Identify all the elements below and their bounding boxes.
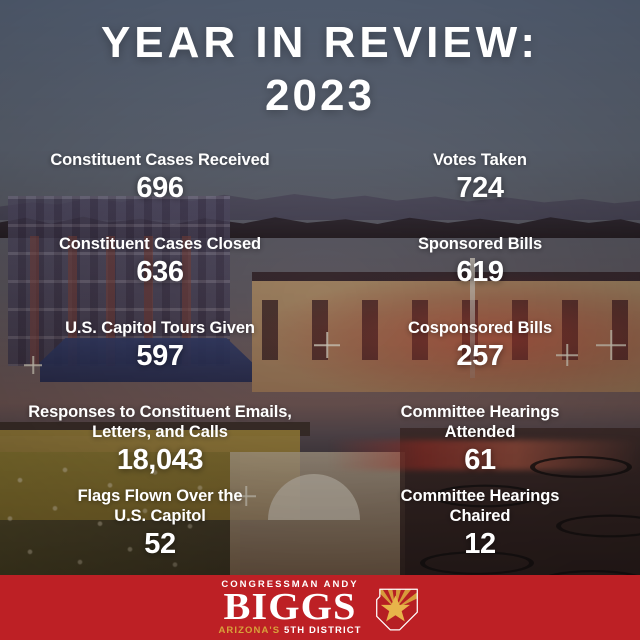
title-line-2: 2023: [0, 68, 640, 124]
stat-value: 18,043: [16, 442, 304, 478]
stat-item: Responses to Constituent Emails, Letters…: [0, 402, 320, 486]
stat-value: 696: [16, 170, 304, 206]
stat-item: Cosponsored Bills 257: [320, 318, 640, 402]
logo-wordmark: CONGRESSMAN ANDY BIGGS ARIZONA'S 5TH DIS…: [218, 580, 361, 636]
stat-item: Flags Flown Over the U.S. Capitol 52: [0, 486, 320, 570]
arizona-flag-emblem-icon: [370, 582, 422, 634]
stat-label: Cosponsored Bills: [336, 318, 624, 338]
stat-label: U.S. Capitol Tours Given: [16, 318, 304, 338]
stat-item: Committee Hearings Chaired 12: [320, 486, 640, 570]
stat-label: Committee Hearings Chaired: [336, 486, 624, 526]
stat-label: Flags Flown Over the U.S. Capitol: [16, 486, 304, 526]
statistics-right-column: Votes Taken 724 Sponsored Bills 619 Cosp…: [320, 150, 640, 570]
stat-item: Constituent Cases Received 696: [0, 150, 320, 234]
infographic-content: YEAR IN REVIEW: 2023 Constituent Cases R…: [0, 0, 640, 640]
stat-value: 724: [336, 170, 624, 206]
stat-value: 636: [16, 254, 304, 290]
stat-item: Votes Taken 724: [320, 150, 640, 234]
page-title: YEAR IN REVIEW: 2023: [0, 18, 640, 124]
title-line-1: YEAR IN REVIEW:: [0, 18, 640, 68]
statistics-grid: Constituent Cases Received 696 Constitue…: [0, 150, 640, 570]
logo-name: BIGGS: [214, 590, 366, 624]
stat-value: 61: [336, 442, 624, 478]
congressman-biggs-logo: CONGRESSMAN ANDY BIGGS ARIZONA'S 5TH DIS…: [218, 575, 421, 640]
stat-label: Constituent Cases Closed: [16, 234, 304, 254]
stat-item: U.S. Capitol Tours Given 597: [0, 318, 320, 402]
year-in-review-infographic: YEAR IN REVIEW: 2023 Constituent Cases R…: [0, 0, 640, 640]
stat-label: Sponsored Bills: [336, 234, 624, 254]
stat-item: Constituent Cases Closed 636: [0, 234, 320, 318]
stat-label: Responses to Constituent Emails, Letters…: [16, 402, 304, 442]
stat-value: 12: [336, 526, 624, 562]
stat-label: Committee Hearings Attended: [336, 402, 624, 442]
footer-banner: CONGRESSMAN ANDY BIGGS ARIZONA'S 5TH DIS…: [0, 575, 640, 640]
statistics-left-column: Constituent Cases Received 696 Constitue…: [0, 150, 320, 570]
stat-label: Votes Taken: [336, 150, 624, 170]
stat-value: 257: [336, 338, 624, 374]
stat-item: Committee Hearings Attended 61: [320, 402, 640, 486]
stat-value: 619: [336, 254, 624, 290]
stat-value: 52: [16, 526, 304, 562]
stat-label: Constituent Cases Received: [16, 150, 304, 170]
stat-value: 597: [16, 338, 304, 374]
stat-item: Sponsored Bills 619: [320, 234, 640, 318]
